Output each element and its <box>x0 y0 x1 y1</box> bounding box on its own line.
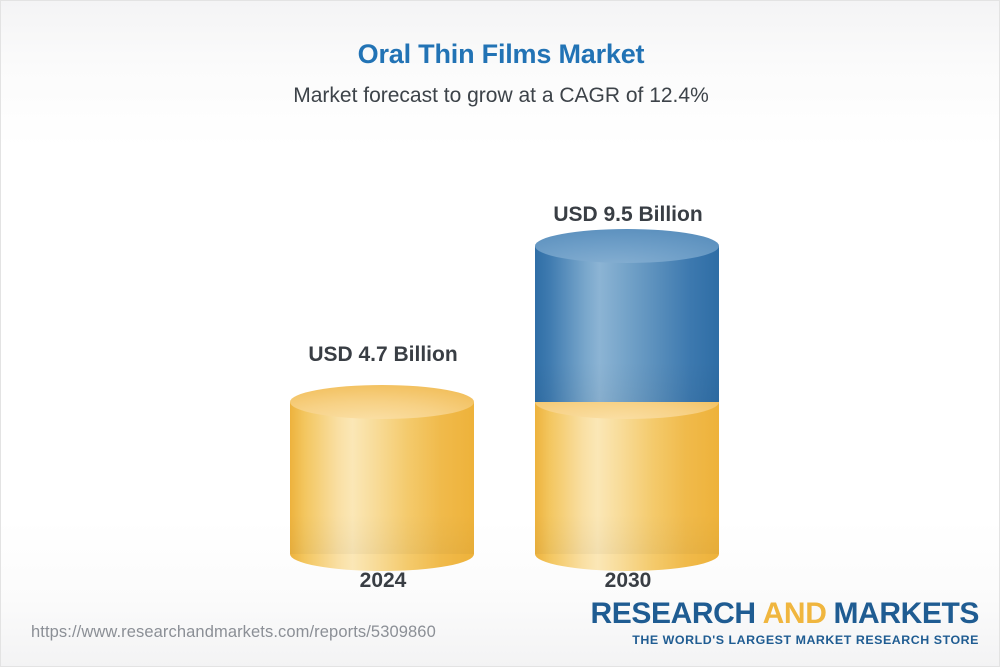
cylinder-body-2024 <box>290 402 474 554</box>
value-label-2030: USD 9.5 Billion <box>498 203 758 227</box>
cylinder-segment-2030-base <box>535 402 719 554</box>
cylinder-top-cap-2030 <box>535 229 719 263</box>
bar-group-2024: USD 4.7 Billion 2024 <box>253 181 513 581</box>
infographic-canvas: Oral Thin Films Market Market forecast t… <box>0 0 1000 667</box>
logo-wordmark: RESEARCHANDMARKETS <box>591 598 979 630</box>
cylinder-segment-2024-base <box>290 402 474 554</box>
bar-group-2030: USD 9.5 Billion 2030 <box>498 181 758 581</box>
chart-subtitle: Market forecast to grow at a CAGR of 12.… <box>1 82 1000 110</box>
cylinder-body-2030-growth <box>535 246 719 402</box>
cylinder-segment-2030-growth <box>535 246 719 402</box>
cylinder-top-cap-2024 <box>290 385 474 419</box>
cylinder-2030 <box>535 246 719 554</box>
cylinder-2024 <box>290 402 474 554</box>
logo-word-research: RESEARCH <box>591 597 756 630</box>
logo-word-markets: MARKETS <box>833 597 979 630</box>
logo-word-and: AND <box>763 597 827 630</box>
value-label-2024: USD 4.7 Billion <box>253 343 513 367</box>
report-url-link[interactable]: https://www.researchandmarkets.com/repor… <box>31 623 436 642</box>
footer: https://www.researchandmarkets.com/repor… <box>1 580 1000 666</box>
cylinder-body-2030-base <box>535 402 719 554</box>
logo-tagline: THE WORLD'S LARGEST MARKET RESEARCH STOR… <box>591 632 979 648</box>
chart-plot-area: USD 4.7 Billion 2024 USD 9.5 Billion <box>1 141 1000 581</box>
page-title: Oral Thin Films Market <box>1 37 1000 71</box>
brand-logo[interactable]: RESEARCHANDMARKETS THE WORLD'S LARGEST M… <box>591 598 979 648</box>
chart-header: Oral Thin Films Market Market forecast t… <box>1 1 1000 110</box>
